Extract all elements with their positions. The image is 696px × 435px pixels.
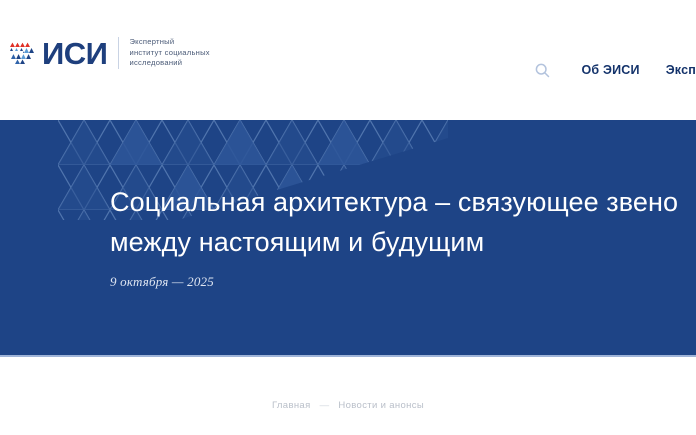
logo-wordmark: ИСИ bbox=[42, 38, 107, 69]
breadcrumb-item-current: Новости и анонсы bbox=[338, 400, 424, 411]
publication-date: 9 октября — 2025 bbox=[110, 274, 214, 290]
nav-item-about[interactable]: Об ЭИСИ bbox=[581, 63, 639, 77]
hero-bottom-divider bbox=[0, 355, 696, 357]
hero-banner: Социальная архитектура – связующее звено… bbox=[0, 120, 696, 355]
nav-item-expertise[interactable]: Эксп bbox=[666, 63, 696, 77]
breadcrumb-item-home[interactable]: Главная bbox=[272, 400, 311, 411]
breadcrumb: Главная — Новости и анонсы bbox=[0, 400, 696, 411]
search-icon[interactable] bbox=[527, 56, 557, 84]
breadcrumb-separator: — bbox=[320, 400, 330, 411]
logo-tagline: Экспертный институт социальных исследова… bbox=[118, 37, 209, 69]
page-title: Социальная архитектура – связующее звено… bbox=[110, 182, 696, 262]
site-logo[interactable]: ИСИ Экспертный институт социальных иссле… bbox=[8, 36, 210, 70]
eisi-hexagon-logo-icon bbox=[8, 36, 40, 70]
main-navigation: Об ЭИСИ Эксп bbox=[527, 56, 696, 84]
site-header: ИСИ Экспертный институт социальных иссле… bbox=[0, 0, 696, 120]
